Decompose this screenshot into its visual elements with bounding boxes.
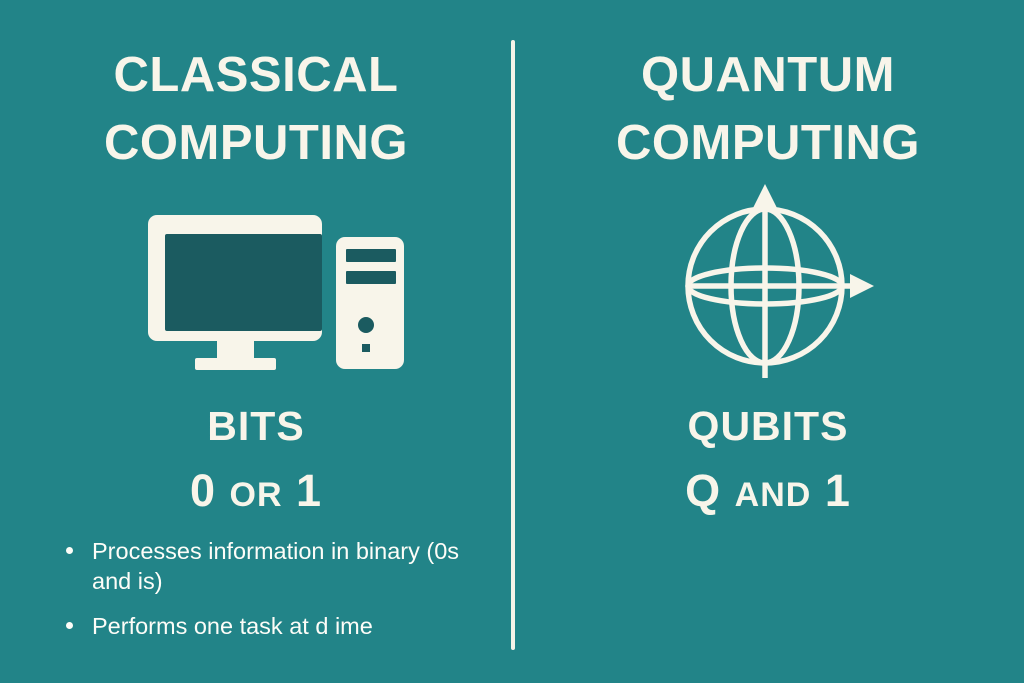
- quantum-value-suffix: 1: [825, 465, 851, 516]
- quantum-value-label: Q AND 1: [512, 465, 1024, 517]
- list-item: Processes information in binary (0s and …: [62, 536, 492, 597]
- quantum-computing-column: QUANTUM COMPUTING: [512, 0, 1024, 683]
- monitor-icon: [148, 215, 322, 341]
- classical-value-suffix: 1: [296, 465, 322, 516]
- led-indicator-icon: [362, 344, 370, 352]
- quantum-vs-classical-infographic: CLASSICAL COMPUTING BITS 0 OR 1: [0, 0, 1024, 683]
- list-item: Performs one task at d ime: [62, 611, 492, 641]
- x-axis-arrowhead-icon: [850, 274, 874, 298]
- bullet-dot-icon: [66, 622, 73, 629]
- classical-value-connector: OR: [230, 476, 283, 514]
- quantum-value-prefix: Q: [685, 465, 721, 516]
- classical-bullet-text-1: Processes information in binary (0s and …: [92, 536, 492, 597]
- tower-drive-slot-icon: [346, 249, 396, 262]
- computer-tower-icon: [336, 237, 404, 369]
- quantum-column-heading: QUANTUM COMPUTING: [512, 42, 1024, 177]
- power-button-icon: [358, 317, 374, 333]
- quantum-heading-line2: COMPUTING: [512, 110, 1024, 178]
- desktop-computer-icon: [140, 205, 430, 385]
- classical-column-heading: CLASSICAL COMPUTING: [0, 42, 512, 177]
- quantum-value-connector: AND: [735, 476, 812, 514]
- classical-bullet-text-2: Performs one task at d ime: [92, 611, 492, 641]
- quantum-unit-label: QUBITS: [512, 403, 1024, 450]
- monitor-stand-neck-icon: [217, 341, 254, 359]
- classical-unit-label: BITS: [0, 403, 512, 450]
- monitor-screen-icon: [165, 234, 322, 331]
- monitor-stand-base-icon: [195, 358, 276, 370]
- bullet-dot-icon: [66, 547, 73, 554]
- z-axis-arrowhead-icon: [753, 184, 777, 208]
- quantum-icon-area: [512, 178, 1024, 393]
- classical-icon-area: [0, 178, 512, 393]
- quantum-heading-line1: QUANTUM: [641, 48, 895, 102]
- classical-heading-line2: COMPUTING: [0, 110, 512, 178]
- classical-bullet-list: Processes information in binary (0s and …: [62, 536, 492, 655]
- bloch-sphere-svg: [660, 178, 880, 393]
- tower-drive-slot-icon: [346, 271, 396, 284]
- classical-value-label: 0 OR 1: [0, 465, 512, 517]
- classical-value-prefix: 0: [190, 465, 216, 516]
- bloch-sphere-icon: [660, 178, 880, 393]
- classical-heading-line1: CLASSICAL: [114, 48, 399, 102]
- classical-computing-column: CLASSICAL COMPUTING BITS 0 OR 1: [0, 0, 512, 683]
